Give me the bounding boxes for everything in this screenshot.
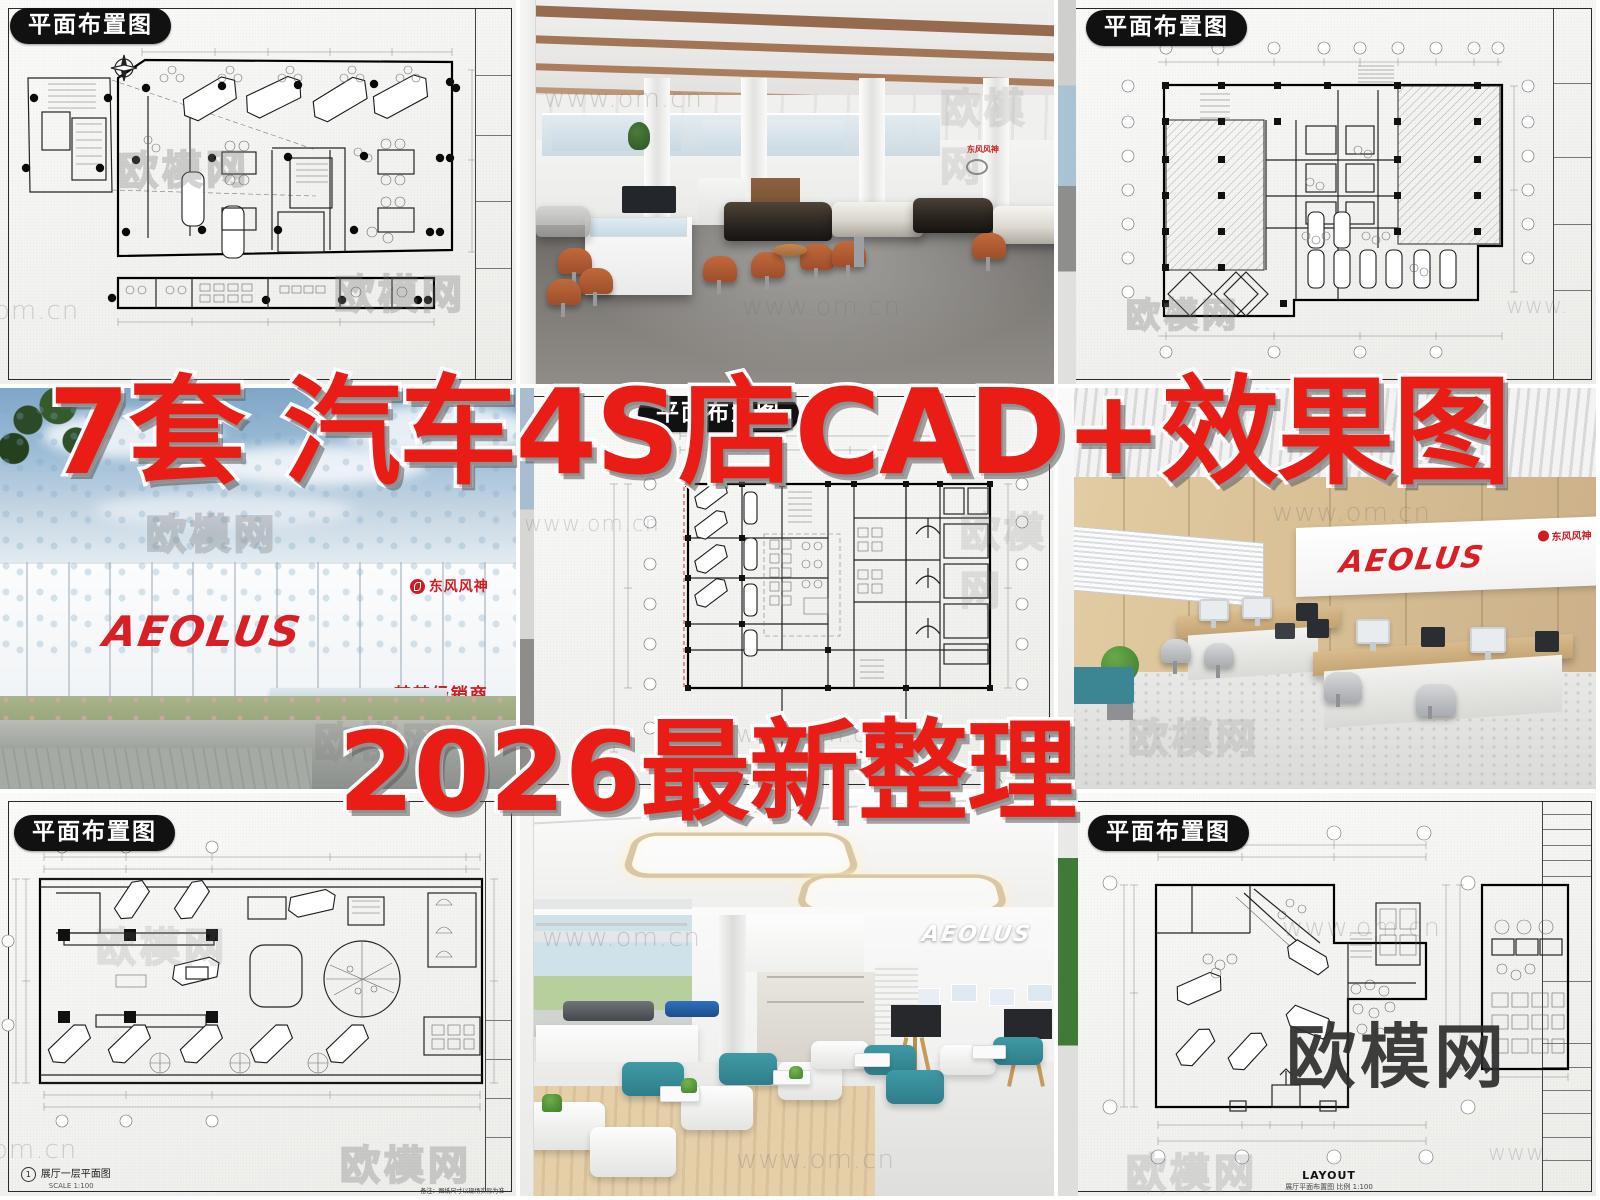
badge-plan-label: 平面布置图	[10, 8, 171, 44]
badge-plan-label-4: 平面布置图	[14, 815, 175, 851]
cell-plan-bottom-left[interactable]: 平面布置图 1展厅一层平面图 SCALE 1:100 备注：图纸尺寸以现场实际为…	[0, 793, 520, 1200]
cell-render-office[interactable]: AEOLUS 东风风神	[1058, 388, 1600, 793]
cell-plan-center[interactable]: 平面布置图 www.om.cn www.om.cn 欧模网	[520, 388, 1058, 793]
maker-name-cn-office: 东风风神	[1552, 526, 1592, 543]
floor-plan-drawing	[0, 0, 520, 388]
sales-office-render: AEOLUS 东风风神	[1058, 388, 1600, 793]
badge-plan-label-5: 平面布置图	[1088, 815, 1249, 851]
detail-number: 1	[21, 1167, 36, 1182]
aeolus-logo-greenwall: AEOLUS	[920, 922, 1033, 947]
cell-render-lounge[interactable]: AEOLUS	[520, 793, 1058, 1200]
showroom-interior-render: 东风风神	[520, 0, 1058, 388]
plan-scale-text: SCALE 1:100	[49, 1182, 111, 1190]
floor-plan-drawing-3	[520, 388, 1058, 793]
plan-caption-bottom-left: 1展厅一层平面图 SCALE 1:100	[21, 1165, 111, 1190]
plan-caption-sub-2: 展厅平面布置图 比例 1:100	[1058, 1182, 1600, 1192]
dongfeng-icon	[410, 579, 425, 594]
poster-root: 平面布置图 欧模网 欧模网 om.cn	[0, 0, 1600, 1200]
wall-brand-logo: 东风风神	[967, 145, 999, 154]
plan-note-text: 备注：图纸尺寸以现场实际为准	[420, 1186, 504, 1195]
cell-plan-top-right[interactable]: 平面布置图 欧模网 www.	[1058, 0, 1600, 388]
plan-caption-text-2: LAYOUT	[1302, 1169, 1356, 1182]
badge-plan-label-2: 平面布置图	[1086, 10, 1247, 46]
cell-render-showroom[interactable]: 东风风神	[520, 0, 1058, 388]
aeolus-logo-office: AEOLUS	[1338, 540, 1488, 581]
brand-lockup-exterior: 东风风神	[410, 576, 489, 596]
maker-name-cn: 东风风神	[429, 576, 489, 596]
cell-plan-top-left[interactable]: 平面布置图 欧模网 欧模网 om.cn	[0, 0, 520, 388]
dongfeng-icon-office	[1538, 530, 1549, 541]
floor-plan-drawing-5	[1058, 793, 1600, 1200]
cell-plan-bottom-right[interactable]: 平面布置图 LAYOUT 展厅平面布置图 比例 1:100 www.om.cn …	[1058, 793, 1600, 1200]
aeolus-sign-band: AEOLUS 东风风神	[1296, 516, 1600, 597]
cell-render-exterior[interactable]: 东风风神 AEOLUS 某某经销商	[0, 388, 520, 793]
plan-caption-bottom-right: LAYOUT 展厅平面布置图 比例 1:100	[1058, 1169, 1600, 1192]
dealership-exterior-render: 东风风神 AEOLUS 某某经销商	[0, 388, 520, 793]
badge-plan-label-3: 平面布置图	[638, 396, 799, 432]
floor-plan-drawing-2	[1058, 0, 1600, 388]
floor-plan-drawing-4	[0, 793, 520, 1200]
plan-caption-text: 展厅一层平面图	[41, 1169, 111, 1180]
aeolus-logo-exterior: AEOLUS	[100, 607, 305, 656]
image-grid: 平面布置图 欧模网 欧模网 om.cn	[0, 0, 1600, 1200]
customer-lounge-render: AEOLUS	[520, 793, 1058, 1200]
